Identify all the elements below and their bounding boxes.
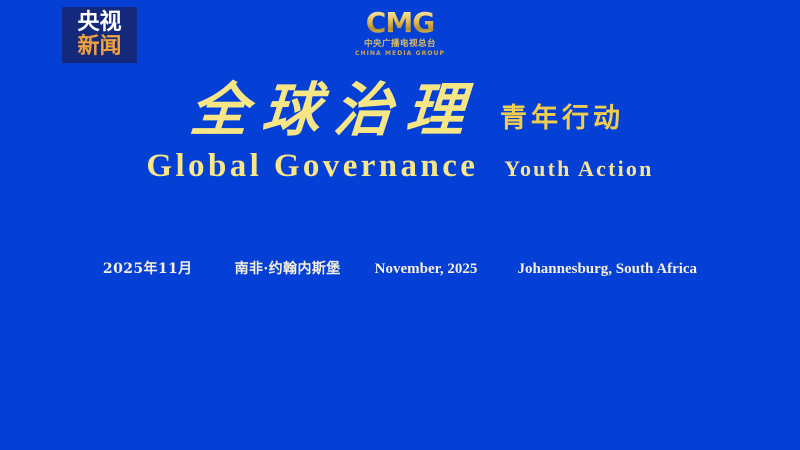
chinese-main-title: 全球治理 [174,78,480,142]
chinese-sub-title: 青年行动 [478,104,624,142]
english-title-row: Global Governance Youth Action [0,148,800,184]
info-location-cn: 南非·约翰内斯堡 [235,259,341,279]
info-date-en: November, 2025 [375,259,478,279]
cmg-wordmark: CMG [366,8,434,38]
cmg-english-name: CHINA MEDIA GROUP [355,50,445,58]
title-block: 全球治理 青年行动 Global Governance Youth Action [0,78,800,184]
chinese-title-row: 全球治理 青年行动 [0,78,800,142]
english-sub-title: Youth Action [478,156,653,182]
english-main-title: Global Governance [146,148,478,184]
cmg-logo: CMG 中央广播电视总台 CHINA MEDIA GROUP [0,8,800,58]
event-info-line: 2025年11月 南非·约翰内斯堡 November, 2025 Johanne… [0,259,800,279]
cmg-chinese-name: 中央广播电视总台 [364,39,436,50]
slide-canvas: 央视 新闻 CMG 中央广播电视总台 CHINA MEDIA GROUP 全球治… [0,0,800,450]
info-location-en: Johannesburg, South Africa [517,259,697,279]
info-date-cn: 2025年11月 [103,259,193,279]
